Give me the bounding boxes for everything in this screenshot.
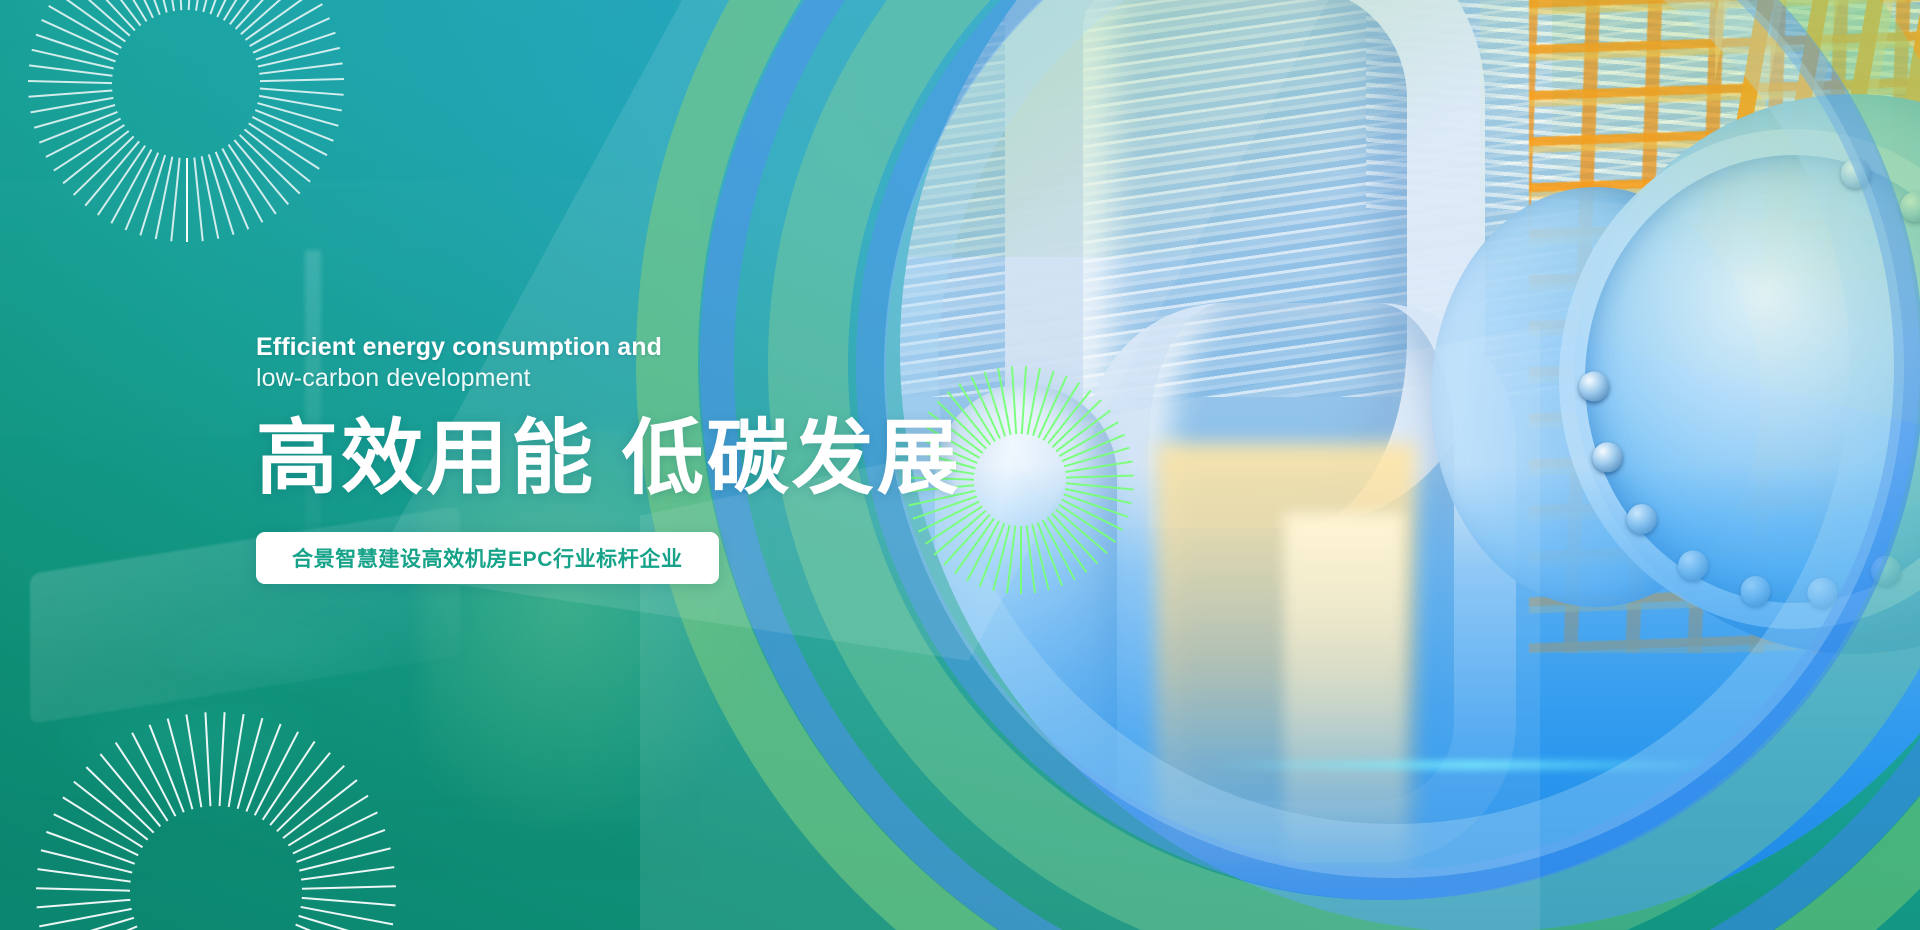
sunburst-ray bbox=[201, 156, 219, 239]
sunburst-ray bbox=[39, 908, 132, 927]
sunburst-ray bbox=[37, 868, 130, 882]
sunburst-ray bbox=[177, 0, 183, 10]
sunburst-ray bbox=[1065, 488, 1132, 504]
photo-floor-light-reflection-2 bbox=[1284, 513, 1404, 930]
sunburst-ray bbox=[260, 78, 344, 82]
sunburst-ray bbox=[259, 95, 342, 111]
sunburst-ray bbox=[37, 899, 131, 908]
sunburst-icon-bottom-left bbox=[36, 712, 396, 930]
photo-green-tint-2 bbox=[1552, 0, 1920, 327]
page-title: 高效用能 低碳发展 bbox=[256, 415, 1016, 504]
sunburst-ray bbox=[28, 90, 112, 98]
eyebrow-line-2: low-carbon development bbox=[256, 363, 1016, 394]
sunburst-ray bbox=[298, 915, 389, 930]
sunburst-ray bbox=[193, 157, 203, 241]
sunburst-ray bbox=[204, 712, 211, 806]
hero-text-block: Efficient energy consumption and low-car… bbox=[256, 332, 1016, 584]
sunburst-ray bbox=[302, 885, 396, 890]
sunburst-ray bbox=[1027, 368, 1041, 435]
sunburst-ray bbox=[239, 135, 300, 195]
sunburst-ray bbox=[302, 897, 396, 906]
sunburst-ray bbox=[1066, 475, 1134, 479]
sunburst-ray bbox=[219, 712, 226, 806]
sunburst-ray bbox=[186, 158, 188, 242]
eyebrow-line-1: Efficient energy consumption and bbox=[256, 332, 1016, 363]
sunburst-ray bbox=[155, 157, 173, 240]
sunburst-ray bbox=[1021, 366, 1027, 434]
photo-flange-bolt bbox=[1579, 371, 1609, 401]
sunburst-ray bbox=[259, 63, 343, 75]
sunburst-ray bbox=[28, 80, 112, 84]
sunburst-icon-top-left bbox=[26, 0, 346, 244]
cta-button-label: 合景智慧建设高效机房EPC行业标杆企业 bbox=[292, 543, 683, 573]
sunburst-ray bbox=[36, 887, 130, 892]
sunburst-ray bbox=[1066, 483, 1134, 491]
sunburst-ray bbox=[1020, 526, 1022, 594]
sunburst-ray bbox=[30, 97, 113, 113]
hero-banner: Efficient energy consumption and low-car… bbox=[0, 0, 1920, 930]
photo-cyan-highlight bbox=[1203, 761, 1738, 769]
sunburst-ray bbox=[170, 158, 180, 242]
sunburst-ray bbox=[188, 0, 194, 10]
sunburst-ray bbox=[301, 906, 394, 925]
sunburst-ray bbox=[260, 88, 344, 96]
cta-button[interactable]: 合景智慧建设高效机房EPC行业标杆企业 bbox=[256, 532, 719, 584]
sunburst-ray bbox=[301, 866, 394, 880]
photo-green-tint bbox=[900, 0, 1598, 257]
